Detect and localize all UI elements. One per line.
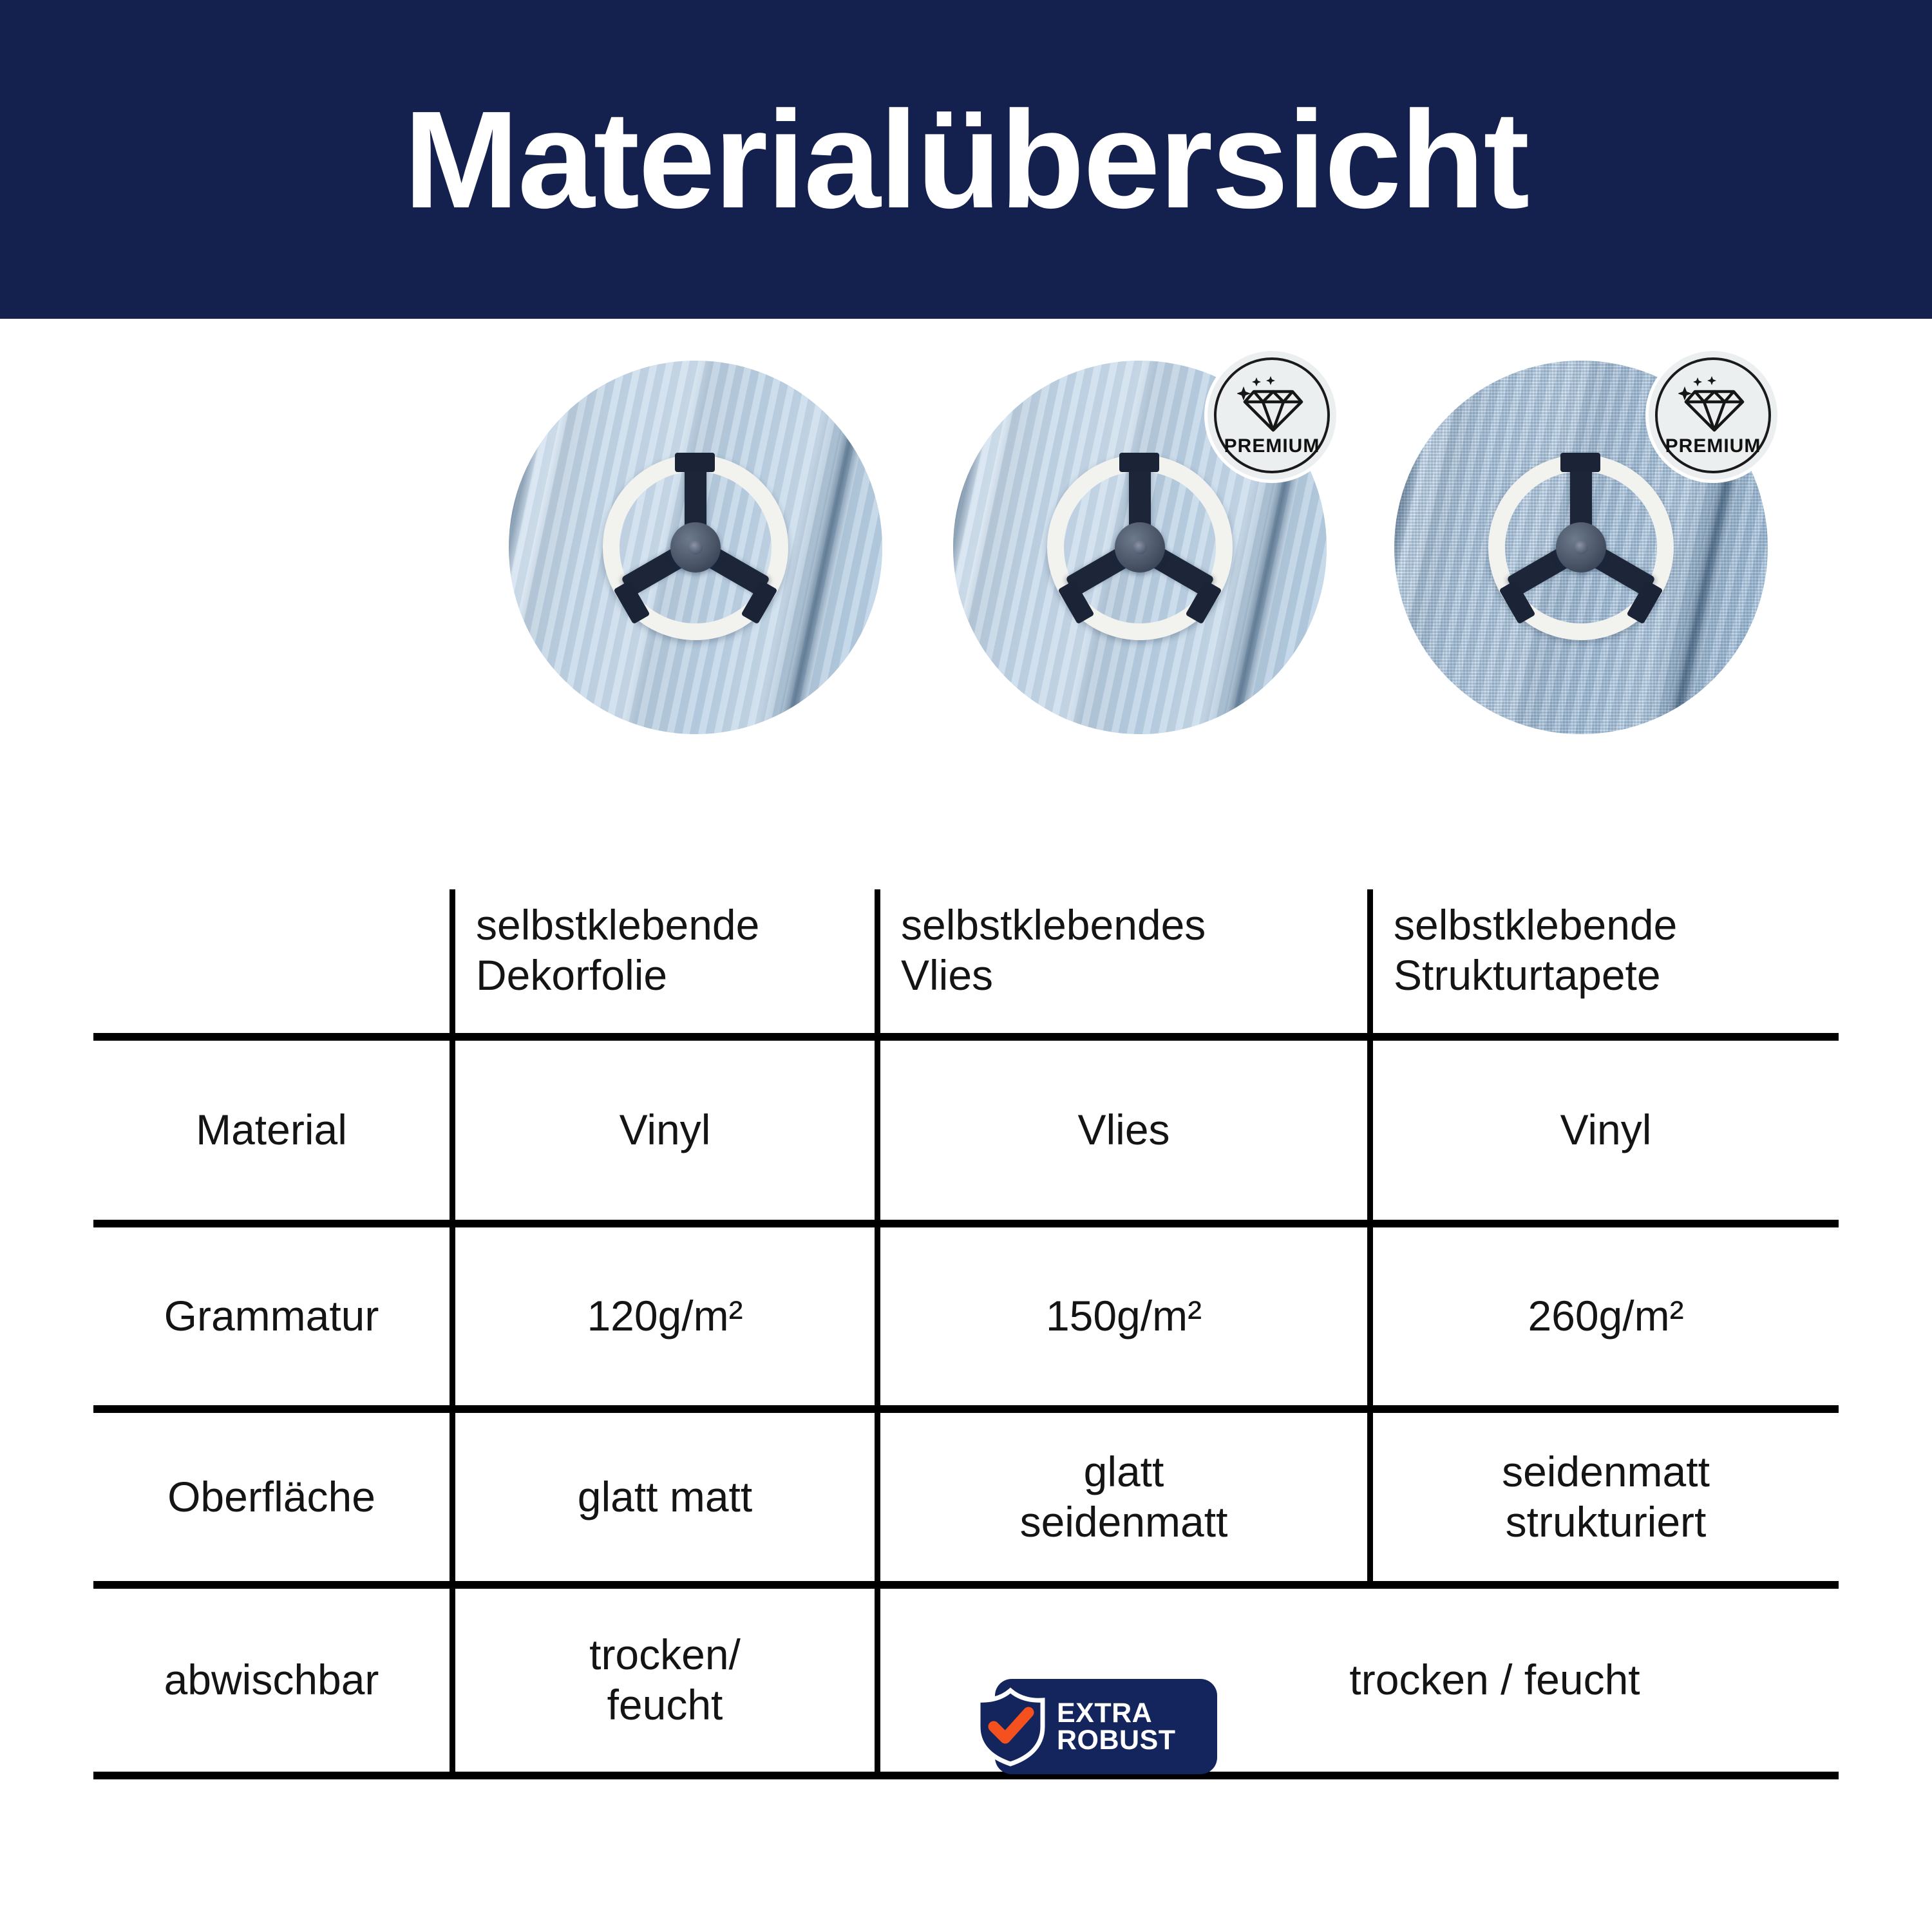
extra-robust-line-2: ROBUST [1057,1727,1176,1754]
table-header-corner [93,895,444,1030]
table-header-col-2: selbstklebendes Vlies [880,895,1363,1030]
sample-image-3: PREMIUM [1394,348,1768,747]
table-cell-grammatur-2: 150g/m² [880,1227,1367,1405]
table-row-label-oberflaeche: Oberfläche [93,1413,450,1581]
table-col-divider [450,889,455,1777]
handwheel-icon [1047,455,1233,640]
extra-robust-badge: EXTRA ROBUST [995,1679,1217,1774]
premium-badge-label: PREMIUM [1224,437,1320,456]
extra-robust-line-1: EXTRA [1057,1700,1176,1727]
page-header: Materialübersicht [0,0,1932,319]
sample-1-circle [509,361,882,734]
table-cell-oberflaeche-1: glatt matt [455,1413,875,1581]
shield-check-icon [971,1687,1050,1766]
sample-image-1 [509,348,882,747]
table-rule [93,1033,1839,1041]
table-col-divider [1367,889,1373,1585]
table-cell-oberflaeche-2: glatt seidenmatt [880,1413,1367,1581]
table-row-label-abwischbar: abwischbar [93,1589,450,1772]
sample-image-2: PREMIUM [953,348,1327,747]
table-cell-material-2: Vlies [880,1041,1367,1220]
premium-badge: PREMIUM [1645,348,1781,483]
table-cell-abwischbar-1: trocken/ feucht [455,1589,875,1772]
table-rule [93,1772,1839,1779]
table-cell-grammatur-3: 260g/m² [1373,1227,1839,1405]
table-cell-oberflaeche-3: seidenmatt strukturiert [1373,1413,1839,1581]
table-rule [93,1581,1839,1589]
table-header-col-3: selbstklebende Strukturtapete [1373,895,1837,1030]
diamond-icon [1678,375,1748,434]
table-cell-grammatur-1: 120g/m² [455,1227,875,1405]
diamond-icon [1237,375,1307,434]
table-cell-material-1: Vinyl [455,1041,875,1220]
material-comparison-table: selbstklebende Dekorfolie selbstklebende… [93,844,1839,1777]
table-header-col-1: selbstklebende Dekorfolie [455,895,871,1030]
table-row-label-grammatur: Grammatur [93,1227,450,1405]
premium-badge-label: PREMIUM [1665,437,1761,456]
extra-robust-label: EXTRA ROBUST [1057,1700,1176,1754]
handwheel-icon [1488,455,1674,640]
sample-gallery: PREMIUM [0,348,1932,773]
table-rule [93,1220,1839,1227]
premium-badge: PREMIUM [1204,348,1340,483]
handwheel-icon [603,455,788,640]
table-cell-material-3: Vinyl [1373,1041,1839,1220]
table-row-label-material: Material [93,1041,450,1220]
page-title: Materialübersicht [404,90,1528,229]
table-rule [93,1405,1839,1413]
table-col-divider [875,889,880,1777]
